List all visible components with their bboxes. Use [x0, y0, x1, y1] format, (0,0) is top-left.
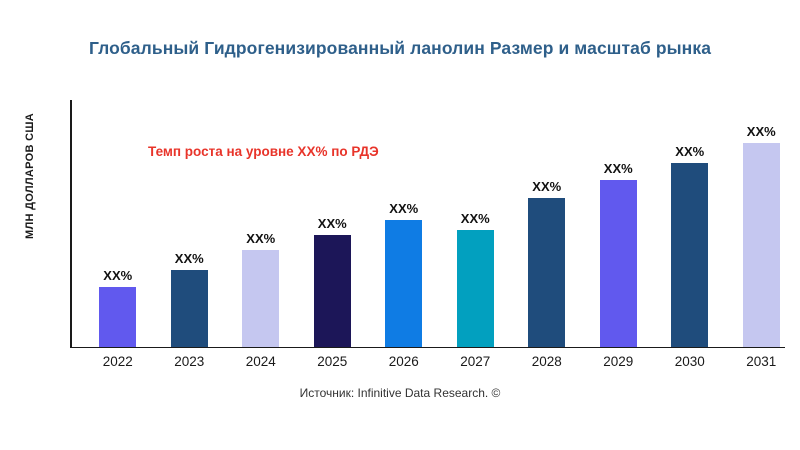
bar-group: XX% — [385, 194, 422, 346]
bar-2024[interactable] — [242, 250, 279, 347]
bar-group: XX% — [242, 224, 279, 347]
bar-value-label: XX% — [246, 231, 275, 246]
bar-group: XX% — [457, 204, 494, 347]
x-tick-2027: 2027 — [460, 354, 490, 369]
bar-value-label: XX% — [103, 268, 132, 283]
x-axis-line — [70, 347, 785, 349]
bar-group: XX% — [671, 137, 708, 347]
bar-group: XX% — [528, 172, 565, 347]
bar-value-label: XX% — [604, 161, 633, 176]
bar-group: XX% — [314, 209, 351, 347]
bar-2023[interactable] — [171, 270, 208, 347]
x-axis-tick-labels: 2022202320242025202620272028202920302031 — [70, 354, 785, 374]
bar-group: XX% — [171, 244, 208, 347]
bar-group: XX% — [99, 261, 136, 347]
bar-2031[interactable] — [743, 143, 780, 346]
bar-value-label: XX% — [747, 124, 776, 139]
x-tick-2025: 2025 — [317, 354, 347, 369]
x-tick-2029: 2029 — [603, 354, 633, 369]
bar-2028[interactable] — [528, 198, 565, 347]
bar-group: XX% — [600, 154, 637, 346]
source-note: Источник: Infinitive Data Research. © — [0, 386, 800, 400]
bar-value-label: XX% — [389, 201, 418, 216]
x-tick-2028: 2028 — [532, 354, 562, 369]
x-tick-2026: 2026 — [389, 354, 419, 369]
bar-2027[interactable] — [457, 230, 494, 347]
bar-group: XX% — [743, 117, 780, 346]
y-axis-line — [70, 100, 72, 348]
bar-value-label: XX% — [675, 144, 704, 159]
bar-2022[interactable] — [99, 287, 136, 347]
x-tick-2022: 2022 — [103, 354, 133, 369]
bar-2029[interactable] — [600, 180, 637, 346]
market-size-bar-chart: Глобальный Гидрогенизированный ланолин Р… — [0, 0, 800, 450]
bar-2026[interactable] — [385, 220, 422, 346]
x-tick-2030: 2030 — [675, 354, 705, 369]
bar-value-label: XX% — [175, 251, 204, 266]
bar-2030[interactable] — [671, 163, 708, 347]
bar-2025[interactable] — [314, 235, 351, 347]
bar-value-label: XX% — [532, 179, 561, 194]
x-tick-2023: 2023 — [174, 354, 204, 369]
growth-rate-annotation: Темп роста на уровне XX% по РДЭ — [148, 144, 379, 159]
plot-area: Темп роста на уровне XX% по РДЭ XX%XX%XX… — [70, 100, 785, 348]
x-tick-2024: 2024 — [246, 354, 276, 369]
x-tick-2031: 2031 — [746, 354, 776, 369]
chart-title: Глобальный Гидрогенизированный ланолин Р… — [0, 38, 800, 59]
bar-value-label: XX% — [318, 216, 347, 231]
bar-value-label: XX% — [461, 211, 490, 226]
y-axis-label: МЛН ДОЛЛАРОВ США — [24, 66, 36, 286]
